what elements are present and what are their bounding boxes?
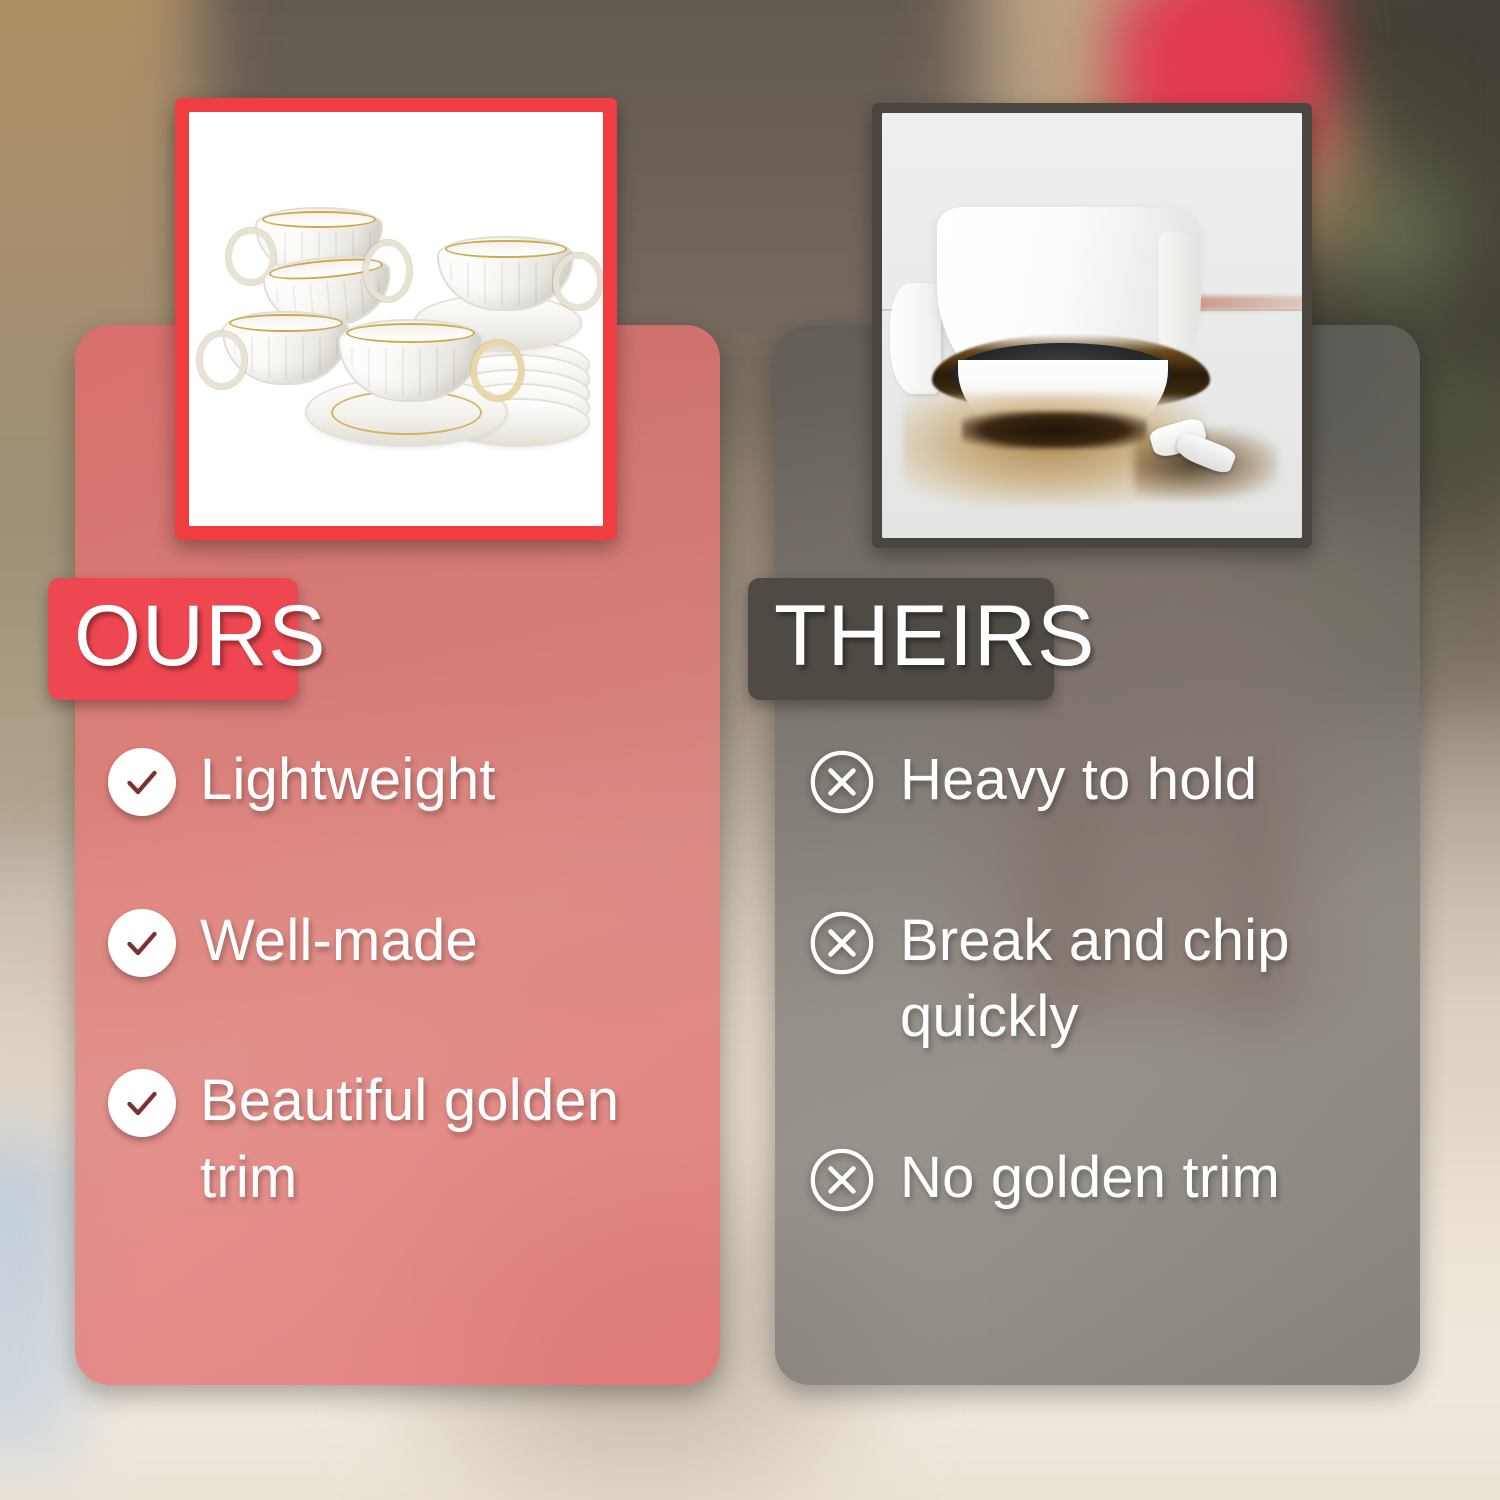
check-icon — [108, 909, 176, 977]
theirs-product-photo-frame — [872, 103, 1312, 548]
list-item-label: Well-made — [200, 903, 478, 980]
check-icon — [108, 748, 176, 816]
list-item: Beautiful golden trim — [108, 1063, 668, 1216]
background-left-blue-accent — [0, 1140, 80, 1460]
list-item: No golden trim — [808, 1140, 1368, 1217]
ours-badge-label: OURS — [74, 593, 326, 679]
broken-cup-photo — [882, 113, 1302, 538]
cross-icon — [808, 748, 876, 816]
theirs-feature-list: Heavy to hold Break and chip quickly — [808, 742, 1368, 1300]
cross-icon — [808, 909, 876, 977]
comparison-infographic: OURS THEIRS Lightweight — [0, 0, 1500, 1500]
ours-product-photo-frame — [175, 98, 617, 540]
theirs-badge: THEIRS — [748, 578, 1054, 700]
list-item-label: Beautiful golden trim — [200, 1063, 668, 1216]
theirs-badge-label: THEIRS — [774, 593, 1095, 679]
white-teacup-set-photo — [189, 112, 603, 526]
ours-badge: OURS — [48, 578, 298, 700]
cross-icon — [808, 1146, 876, 1214]
list-item: Break and chip quickly — [808, 903, 1368, 1056]
list-item: Well-made — [108, 903, 668, 980]
list-item: Lightweight — [108, 742, 668, 819]
list-item-label: Heavy to hold — [900, 742, 1257, 819]
check-icon — [108, 1069, 176, 1137]
ours-feature-list: Lightweight Well-made Beautiful — [108, 742, 668, 1300]
list-item: Heavy to hold — [808, 742, 1368, 819]
list-item-label: Lightweight — [200, 742, 496, 819]
list-item-label: No golden trim — [900, 1140, 1280, 1217]
list-item-label: Break and chip quickly — [900, 903, 1368, 1056]
